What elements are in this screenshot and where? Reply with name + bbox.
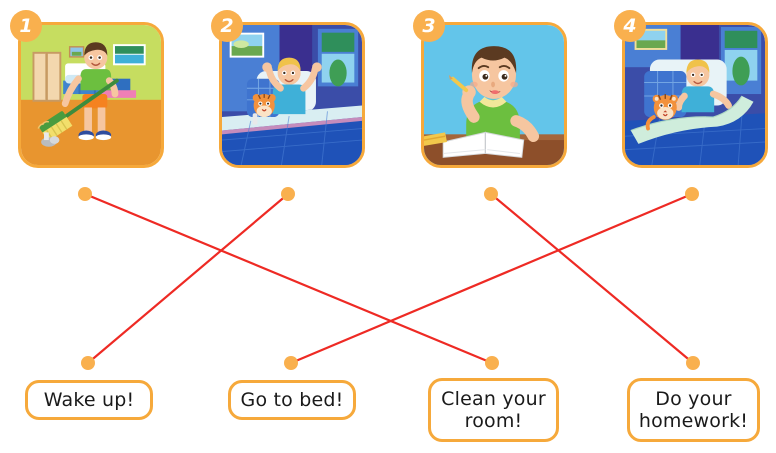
top-dot-2[interactable] [281,187,295,201]
card-1-number-badge: 1 [10,10,42,42]
answer-box-go-to-bed[interactable]: Go to bed! [228,380,356,420]
bottom-dot-4[interactable] [686,356,700,370]
card-3-frame [421,22,567,168]
match-line-card3-do-your-homework[interactable] [491,194,693,363]
picture-cards-row: 1 [0,0,776,180]
bottom-dot-3[interactable] [485,356,499,370]
picture-card-1[interactable]: 1 [18,22,164,168]
answer-box-do-your-homework[interactable]: Do your homework! [627,378,760,442]
card-1-frame [18,22,164,168]
picture-card-4[interactable]: 4 [622,22,768,168]
answer-box-clean-your-room[interactable]: Clean your room! [428,378,559,442]
answer-boxes-row: Wake up! Go to bed! Clean your room! Do … [0,372,776,453]
bottom-dot-1[interactable] [81,356,95,370]
card-3-number-badge: 3 [413,10,445,42]
homework-illustration [424,25,564,165]
card-2-frame [219,22,365,168]
card-2-number-badge: 2 [211,10,243,42]
match-line-card2-wake-up[interactable] [88,194,288,363]
match-line-card4-go-to-bed[interactable] [291,194,692,363]
wake-up-illustration [222,25,362,165]
picture-card-3[interactable]: 3 [421,22,567,168]
card-4-frame [622,22,768,168]
bottom-dot-2[interactable] [284,356,298,370]
card-4-number-badge: 4 [614,10,646,42]
go-to-bed-illustration [625,25,765,165]
match-line-card1-clean-your-room[interactable] [85,194,492,363]
picture-card-2[interactable]: 2 [219,22,365,168]
top-dot-4[interactable] [685,187,699,201]
answer-box-wake-up[interactable]: Wake up! [25,380,153,420]
clean-room-illustration [21,25,161,165]
top-dot-1[interactable] [78,187,92,201]
top-dot-3[interactable] [484,187,498,201]
